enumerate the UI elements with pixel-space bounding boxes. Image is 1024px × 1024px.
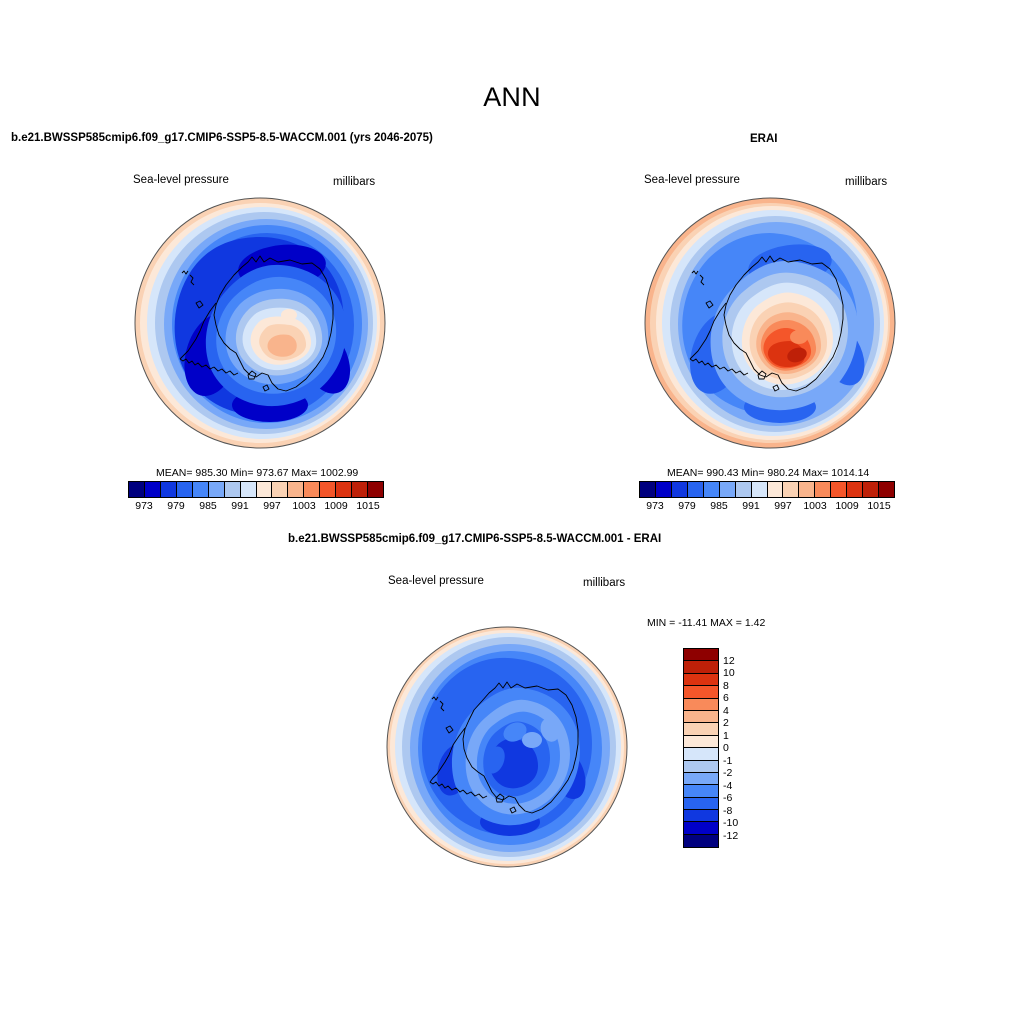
- colorbar-tick-985: 985: [199, 500, 217, 512]
- colorbar-tick-997: 997: [774, 500, 792, 512]
- colorbar-tick-v--2: -2: [723, 768, 732, 779]
- colorbar-swatch-11: [304, 482, 320, 497]
- colorbar-swatch-2: [672, 482, 688, 497]
- colorbar-tick-985: 985: [710, 500, 728, 512]
- colorbar-swatch-0: [640, 482, 656, 497]
- colorbar-tick-1003: 1003: [803, 500, 826, 512]
- colorbar-swatch-14: [352, 482, 368, 497]
- colorbar-tick-973: 973: [646, 500, 664, 512]
- colorbar-swatch-7: [241, 482, 257, 497]
- colorbar-model: 973979985991997100310091015: [128, 481, 384, 511]
- units-label-obs: millibars: [845, 176, 887, 188]
- colorbar-swatch-v-3: [684, 686, 718, 698]
- colorbar-swatch-15: [368, 482, 383, 497]
- colorbar-tick-v-8: 8: [723, 680, 729, 691]
- colorbar-swatch-4: [193, 482, 209, 497]
- colorbar-tick-1003: 1003: [292, 500, 315, 512]
- variable-label-model: Sea-level pressure: [133, 174, 229, 186]
- colorbar-tick-v--12: -12: [723, 830, 738, 841]
- variable-label-obs: Sea-level pressure: [644, 174, 740, 186]
- panel-title-obs: ERAI: [750, 133, 777, 145]
- colorbar-swatch-6: [225, 482, 241, 497]
- colorbar-swatch-v-5: [684, 711, 718, 723]
- colorbar-swatch-3: [177, 482, 193, 497]
- colorbar-swatch-v-6: [684, 723, 718, 735]
- colorbar-swatch-11: [815, 482, 831, 497]
- colorbar-swatch-5: [720, 482, 736, 497]
- colorbar-swatch-2: [161, 482, 177, 497]
- colorbar-tick-997: 997: [263, 500, 281, 512]
- polar-map-model: [130, 193, 390, 453]
- colorbar-swatch-9: [783, 482, 799, 497]
- colorbar-tick-1009: 1009: [324, 500, 347, 512]
- colorbar-swatch-v-11: [684, 785, 718, 797]
- colorbar-swatch-0: [129, 482, 145, 497]
- colorbar-tick-973: 973: [135, 500, 153, 512]
- colorbar-tick-979: 979: [167, 500, 185, 512]
- stats-difference: MIN = -11.41 MAX = 1.42: [647, 617, 765, 629]
- colorbar-tick-979: 979: [678, 500, 696, 512]
- colorbar-swatch-v-2: [684, 674, 718, 686]
- units-label-model: millibars: [333, 176, 375, 188]
- colorbar-swatch-8: [257, 482, 273, 497]
- colorbar-difference: 1210864210-1-2-4-6-8-10-12: [683, 648, 729, 848]
- colorbar-swatch-10: [799, 482, 815, 497]
- colorbar-swatches-obs: [639, 481, 895, 498]
- colorbar-swatch-1: [145, 482, 161, 497]
- colorbar-swatch-7: [752, 482, 768, 497]
- colorbar-tick-1015: 1015: [867, 500, 890, 512]
- colorbar-swatch-13: [336, 482, 352, 497]
- colorbar-swatch-14: [863, 482, 879, 497]
- page-title: ANN: [0, 82, 1024, 113]
- colorbar-swatch-v-8: [684, 748, 718, 760]
- colorbar-tick-991: 991: [231, 500, 249, 512]
- colorbar-ticklabels-model: 973979985991997100310091015: [128, 500, 384, 514]
- colorbar-ticklabels-obs: 973979985991997100310091015: [639, 500, 895, 514]
- colorbar-tick-v--6: -6: [723, 793, 732, 804]
- colorbar-tick-1015: 1015: [356, 500, 379, 512]
- colorbar-tick-v--8: -8: [723, 805, 732, 816]
- colorbar-swatch-v-9: [684, 761, 718, 773]
- colorbar-swatch-v-13: [684, 810, 718, 822]
- colorbar-swatch-v-7: [684, 736, 718, 748]
- stats-obs: MEAN= 990.43 Min= 980.24 Max= 1014.14: [667, 467, 869, 479]
- colorbar-swatches-difference: [683, 648, 719, 848]
- colorbar-swatch-4: [704, 482, 720, 497]
- colorbar-swatch-v-4: [684, 699, 718, 711]
- units-label-difference: millibars: [583, 577, 625, 589]
- colorbar-swatch-13: [847, 482, 863, 497]
- colorbar-ticklabels-difference: 1210864210-1-2-4-6-8-10-12: [723, 648, 763, 848]
- colorbar-tick-v-12: 12: [723, 655, 735, 666]
- panel-title-difference: b.e21.BWSSP585cmip6.f09_g17.CMIP6-SSP5-8…: [288, 533, 661, 545]
- colorbar-swatch-5: [209, 482, 225, 497]
- colorbar-swatch-8: [768, 482, 784, 497]
- colorbar-swatch-3: [688, 482, 704, 497]
- variable-label-difference: Sea-level pressure: [388, 575, 484, 587]
- panel-title-model: b.e21.BWSSP585cmip6.f09_g17.CMIP6-SSP5-8…: [11, 132, 433, 144]
- colorbar-tick-v-10: 10: [723, 668, 735, 679]
- colorbar-tick-v--1: -1: [723, 755, 732, 766]
- colorbar-swatch-6: [736, 482, 752, 497]
- colorbar-tick-v-2: 2: [723, 718, 729, 729]
- colorbar-tick-v--4: -4: [723, 780, 732, 791]
- colorbar-swatch-v-10: [684, 773, 718, 785]
- colorbar-swatch-v-12: [684, 798, 718, 810]
- colorbar-tick-v--10: -10: [723, 818, 738, 829]
- colorbar-tick-v-1: 1: [723, 730, 729, 741]
- colorbar-swatch-12: [831, 482, 847, 497]
- colorbar-swatch-9: [272, 482, 288, 497]
- colorbar-tick-991: 991: [742, 500, 760, 512]
- colorbar-tick-1009: 1009: [835, 500, 858, 512]
- colorbar-swatch-12: [320, 482, 336, 497]
- colorbar-obs: 973979985991997100310091015: [639, 481, 895, 511]
- stats-model: MEAN= 985.30 Min= 973.67 Max= 1002.99: [156, 467, 358, 479]
- colorbar-swatch-15: [879, 482, 894, 497]
- colorbar-swatches-model: [128, 481, 384, 498]
- polar-map-obs: [640, 193, 900, 453]
- polar-map-difference: [382, 622, 642, 882]
- colorbar-swatch-v-1: [684, 661, 718, 673]
- colorbar-tick-v-0: 0: [723, 743, 729, 754]
- colorbar-swatch-10: [288, 482, 304, 497]
- colorbar-tick-v-6: 6: [723, 693, 729, 704]
- colorbar-swatch-v-15: [684, 835, 718, 847]
- colorbar-swatch-v-0: [684, 649, 718, 661]
- colorbar-tick-v-4: 4: [723, 705, 729, 716]
- colorbar-swatch-1: [656, 482, 672, 497]
- colorbar-swatch-v-14: [684, 822, 718, 834]
